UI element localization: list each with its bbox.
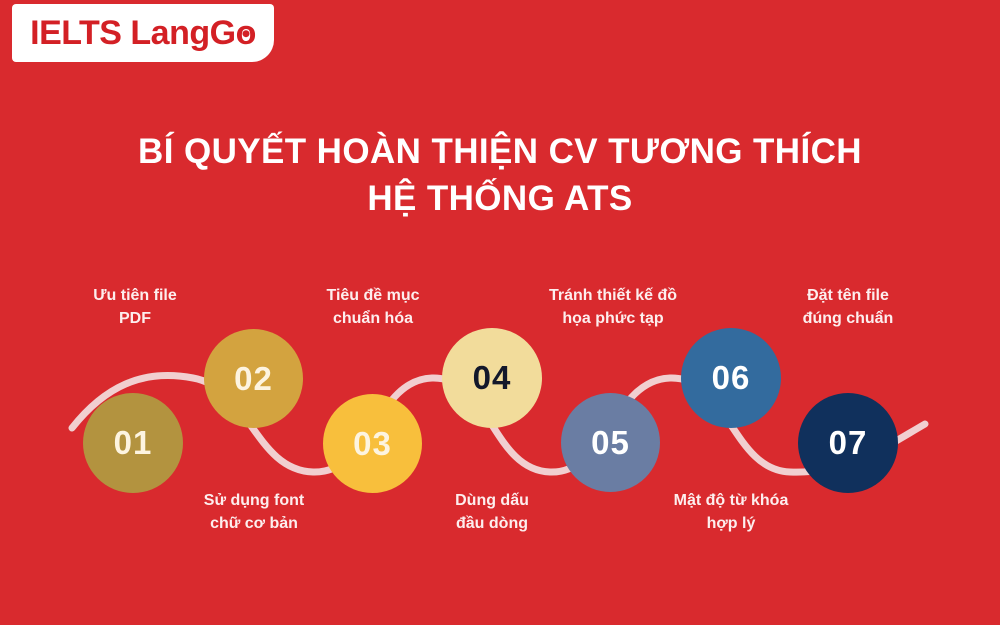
step-number-02: 02 bbox=[234, 360, 273, 398]
page-title: BÍ QUYẾT HOÀN THIỆN CV TƯƠNG THÍCH HỆ TH… bbox=[0, 128, 1000, 223]
step-circle-03[interactable]: 03 bbox=[323, 394, 422, 493]
step-number-06: 06 bbox=[712, 359, 751, 397]
step-caption-02: Sử dụng font chữ cơ bản bbox=[144, 489, 364, 535]
step-circle-06[interactable]: 06 bbox=[681, 328, 781, 428]
brand-logo-text: IELTS LangGo bbox=[30, 16, 256, 50]
step-caption-01: Ưu tiên file PDF bbox=[25, 284, 245, 330]
brand-logo-text-main: IELTS Lang bbox=[30, 16, 209, 50]
step-circle-05[interactable]: 05 bbox=[561, 393, 660, 492]
brand-logo[interactable]: IELTS LangGo bbox=[12, 4, 274, 62]
step-caption-03: Tiêu đề mục chuẩn hóa bbox=[263, 284, 483, 330]
step-number-05: 05 bbox=[591, 424, 630, 462]
step-caption-06: Mật độ từ khóa hợp lý bbox=[621, 489, 841, 535]
page-title-line-2: HỆ THỐNG ATS bbox=[0, 175, 1000, 222]
page-title-line-1: BÍ QUYẾT HOÀN THIỆN CV TƯƠNG THÍCH bbox=[0, 128, 1000, 175]
step-caption-05: Tránh thiết kế đồ họa phức tạp bbox=[503, 284, 723, 330]
brand-logo-text-g: G bbox=[210, 16, 236, 50]
step-number-01: 01 bbox=[114, 424, 153, 462]
step-number-07: 07 bbox=[829, 424, 868, 462]
step-number-04: 04 bbox=[473, 359, 512, 397]
step-circle-01[interactable]: 01 bbox=[83, 393, 183, 493]
step-circle-07[interactable]: 07 bbox=[798, 393, 898, 493]
step-circle-04[interactable]: 04 bbox=[442, 328, 542, 428]
step-caption-07: Đặt tên file đúng chuẩn bbox=[738, 284, 958, 330]
step-circle-02[interactable]: 02 bbox=[204, 329, 303, 428]
step-caption-04: Dùng dấu đầu dòng bbox=[382, 489, 602, 535]
step-number-03: 03 bbox=[353, 425, 392, 463]
brand-logo-text-o: o bbox=[236, 16, 256, 50]
